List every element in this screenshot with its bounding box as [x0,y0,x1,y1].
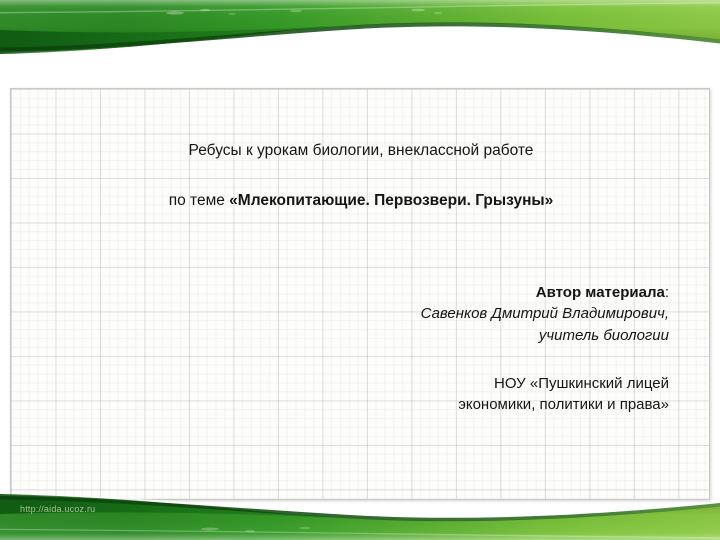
organization-block: НОУ «Пушкинский лицей экономики, политик… [239,373,669,416]
green-wave-banner-top [0,0,720,62]
organization-line-2: экономики, политики и права» [239,394,669,415]
author-role-colon: : [665,284,669,301]
organization-line-1: НОУ «Пушкинский лицей [239,373,669,394]
author-name: Савенков Дмитрий Владимирович, [239,303,669,324]
green-wave-banner-bottom [0,488,720,540]
author-position: учитель биологии [239,325,669,346]
author-role-label: Автор материала [536,284,665,301]
panel-content-area: Ребусы к урокам биологии, внеклассной ра… [11,89,709,499]
presentation-slide: Ребусы к урокам биологии, внеклассной ра… [0,0,720,540]
graph-paper-panel: Ребусы к урокам биологии, внеклассной ра… [10,88,710,500]
page-title: Ребусы к урокам биологии, внеклассной ра… [11,141,709,212]
wave-bottom-graphic [0,488,720,540]
wave-top-graphic [0,0,720,62]
author-role-line: Автор материала: [239,282,669,303]
title-line-1: Ребусы к урокам биологии, внеклассной ра… [11,141,709,162]
author-credit-block: Автор материала: Савенков Дмитрий Владим… [239,282,669,346]
source-watermark: http://aida.ucoz.ru [20,504,95,514]
title-line-2: по теме «Млекопитающие. Первозвери. Грыз… [11,191,709,212]
title-line-2-emphasis: «Млекопитающие. Первозвери. Грызуны» [229,192,553,209]
title-line-2-prefix: по теме [169,192,229,209]
